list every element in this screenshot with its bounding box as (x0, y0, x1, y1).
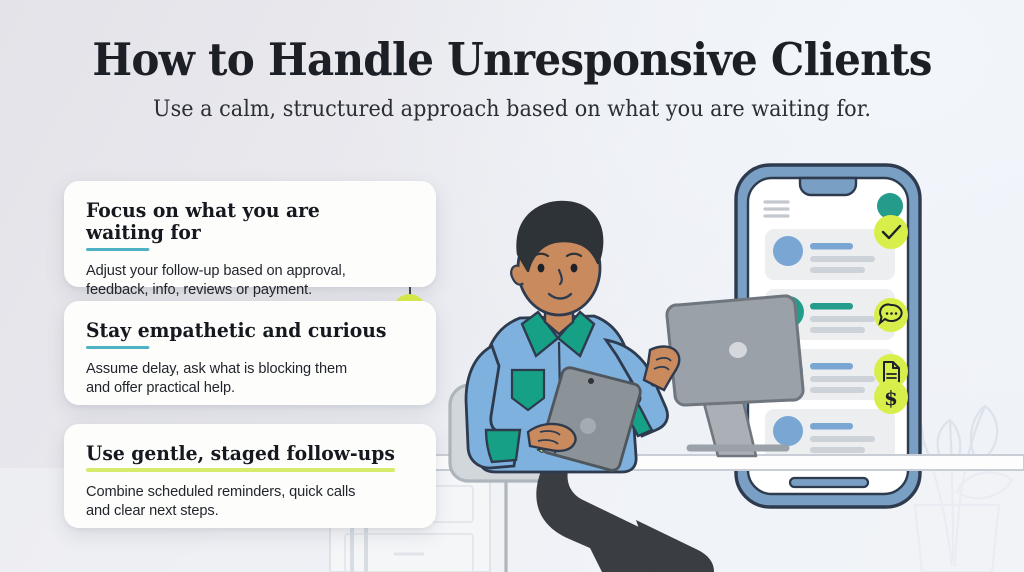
page-subtitle: Use a calm, structured approach based on… (28, 97, 996, 122)
check-badge[interactable] (874, 215, 908, 249)
page-title: How to Handle Unresponsive Clients (33, 36, 990, 85)
message-badge[interactable] (874, 298, 908, 332)
monitor-logo (729, 342, 747, 358)
tip-card-2-heading: Stay empathetic and curious (86, 320, 386, 342)
heading-underline (86, 468, 395, 472)
tip-card-3[interactable]: Use gentle, staged follow-ups Combine sc… (64, 424, 436, 528)
tip-card-3-body: Combine scheduled reminders, quick calls… (86, 483, 414, 522)
infographic-canvas: $ (0, 0, 1024, 572)
tip-card-2-body: Assume delay, ask what is blocking them … (86, 360, 414, 399)
svg-text:$: $ (884, 386, 898, 410)
tip-card-2[interactable]: Stay empathetic and curious Assume delay… (64, 301, 436, 405)
header-block: How to Handle Unresponsive Clients Use a… (0, 36, 1024, 122)
payment-badge[interactable]: $ (874, 380, 908, 414)
heading-underline (86, 248, 149, 251)
message-row[interactable] (765, 409, 895, 460)
tip-card-3-heading: Use gentle, staged follow-ups (86, 443, 395, 465)
tip-card-1-body: Adjust your follow-up based on approval,… (86, 262, 414, 301)
tip-card-1-heading: Focus on what you are waiting for (86, 200, 401, 244)
heading-underline (86, 346, 149, 349)
tip-card-1[interactable]: Focus on what you are waiting for Adjust… (64, 181, 436, 287)
